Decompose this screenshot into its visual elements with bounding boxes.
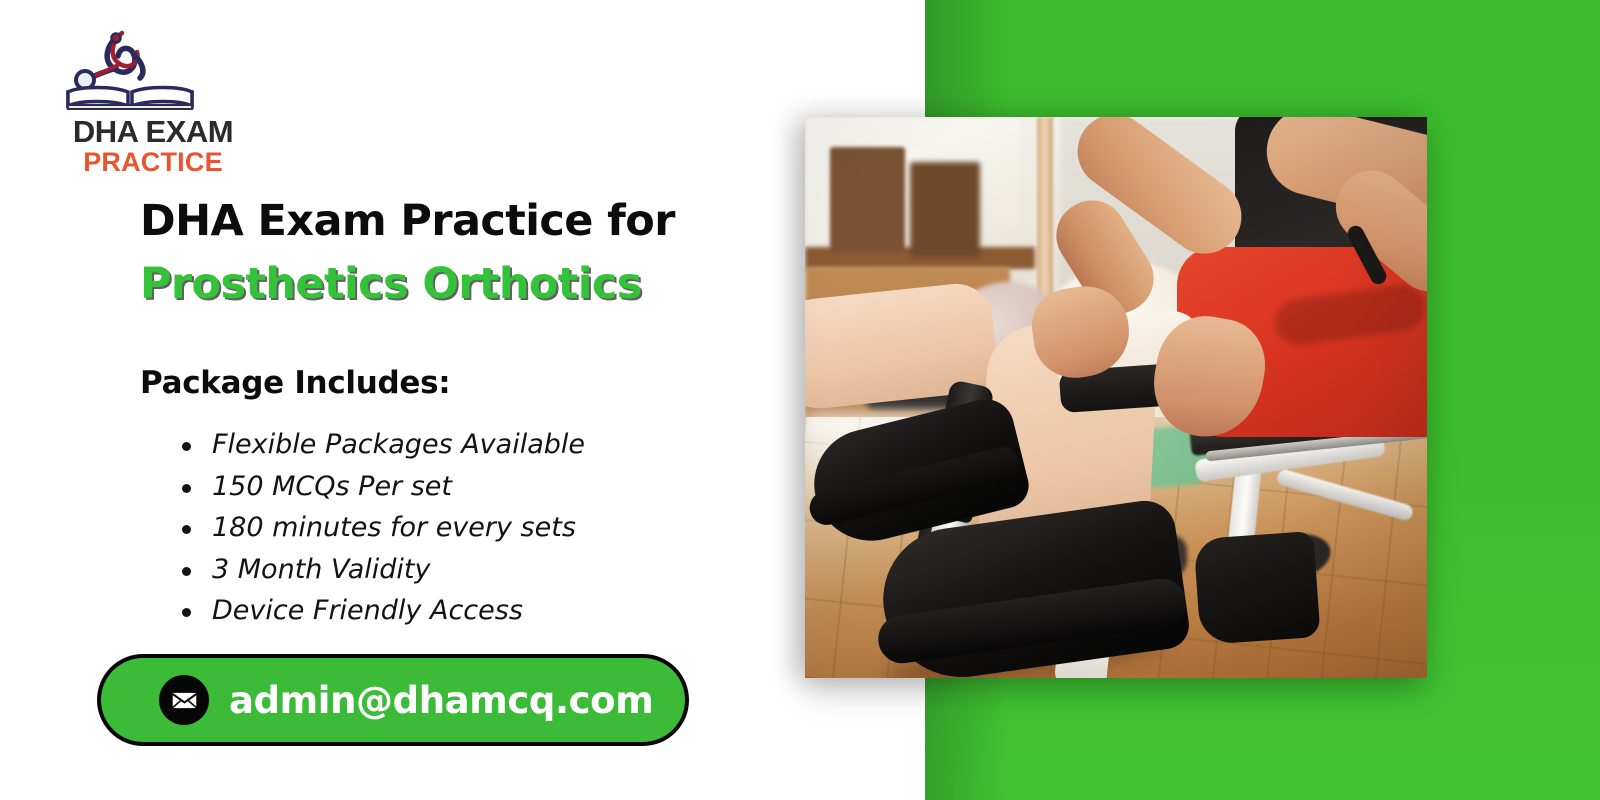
list-item: Flexible Packages Available (176, 424, 796, 466)
logo-wordmark: DHA EXAM PRACTICE (58, 116, 248, 178)
logo-line-two: PRACTICE (58, 147, 248, 178)
list-item: 150 MCQs Per set (176, 466, 796, 508)
promo-banner: DHA EXAM PRACTICE DHA Exam Practice for … (0, 0, 1600, 800)
brand-logo[interactable]: DHA EXAM PRACTICE (40, 22, 260, 172)
prosthetics-photo (805, 117, 1427, 678)
list-item: 180 minutes for every sets (176, 507, 796, 549)
email-contact-button[interactable]: admin@dhamcq.com (97, 654, 689, 746)
package-feature-list: Flexible Packages Available 150 MCQs Per… (176, 424, 796, 632)
list-item: 3 Month Validity (176, 549, 796, 591)
email-address-label: admin@dhamcq.com (229, 679, 653, 722)
headline-line-two: Prosthetics Orthotics (140, 259, 860, 310)
stethoscope-over-open-book-icon (60, 22, 200, 110)
photo-vignette (805, 117, 1427, 678)
envelope-icon (159, 675, 209, 725)
headline-line-one: DHA Exam Practice for (140, 196, 860, 247)
logo-line-one: DHA EXAM (58, 116, 248, 147)
package-includes-heading: Package Includes: (140, 365, 450, 401)
list-item: Device Friendly Access (176, 590, 796, 632)
page-title: DHA Exam Practice for Prosthetics Orthot… (140, 196, 860, 309)
